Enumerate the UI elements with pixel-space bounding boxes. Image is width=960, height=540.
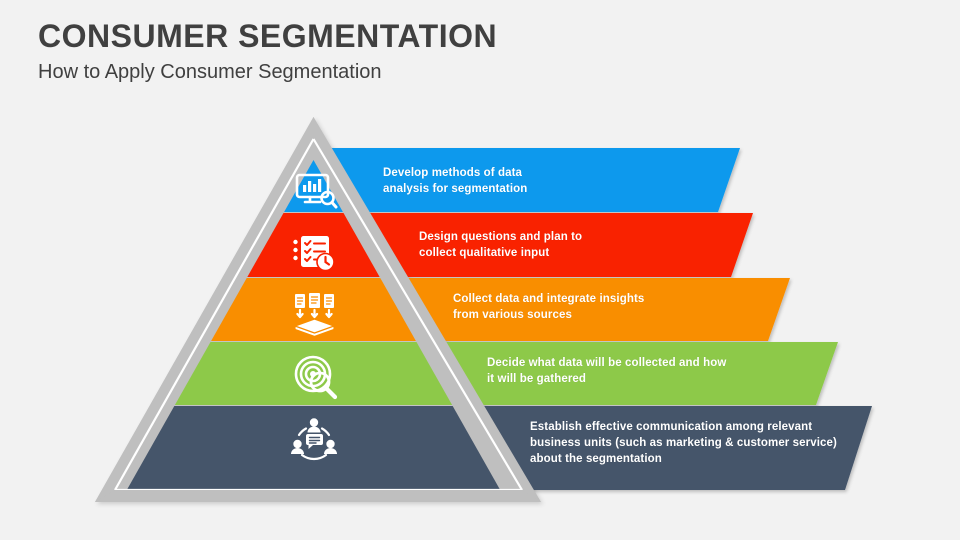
monitor-bar-chart-search-icon bbox=[290, 167, 342, 215]
pyramid-level-1-label: Develop methods of data analysis for seg… bbox=[383, 165, 527, 197]
slide-canvas: CONSUMER SEGMENTATION How to Apply Consu… bbox=[0, 0, 960, 540]
pyramid-level-4-label: Decide what data will be collected and h… bbox=[487, 355, 726, 387]
pyramid-level-2-label: Design questions and plan to collect qua… bbox=[419, 229, 582, 261]
team-communication-icon bbox=[288, 415, 340, 463]
target-search-icon bbox=[292, 353, 344, 401]
checklist-clock-icon bbox=[290, 229, 342, 277]
pyramid-level-5-label: Establish effective communication among … bbox=[530, 419, 837, 467]
documents-into-box-icon bbox=[290, 290, 342, 338]
pyramid-level-3-label: Collect data and integrate insights from… bbox=[453, 291, 644, 323]
